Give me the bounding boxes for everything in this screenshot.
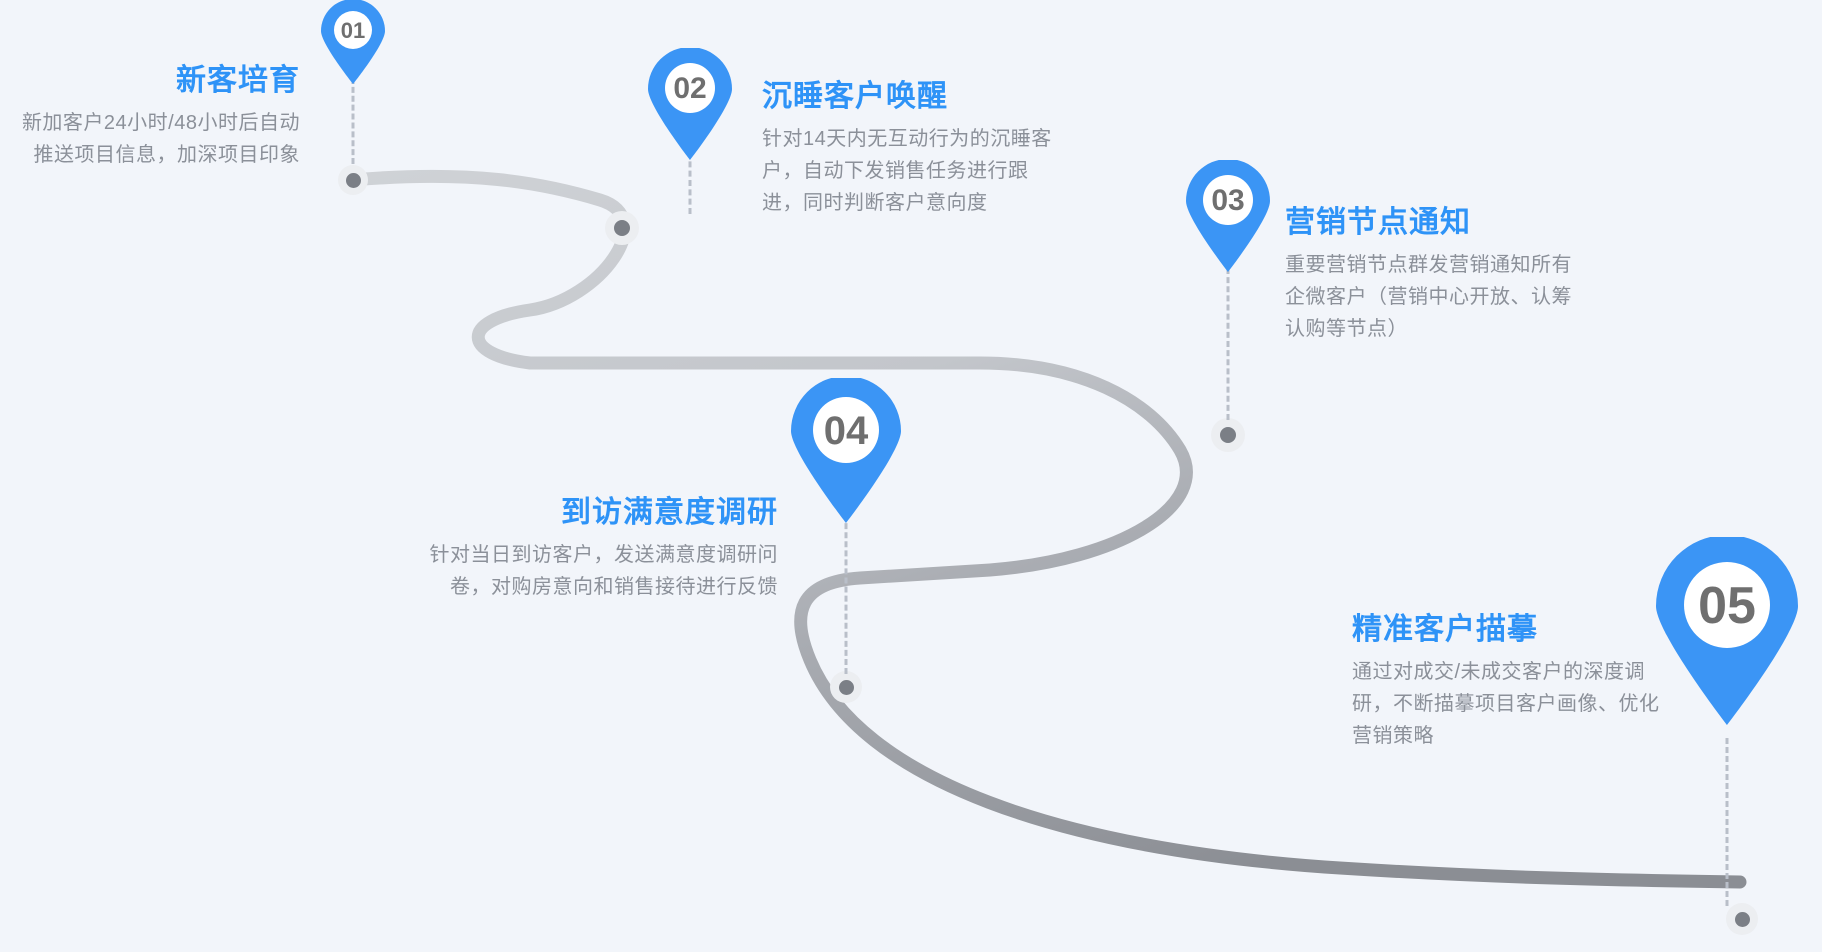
node-dot-05 — [1726, 903, 1758, 935]
step-text-05: 精准客户描摹 通过对成交/未成交客户的深度调研，不断描摹项目客户画像、优化营销策… — [1352, 613, 1672, 753]
map-pin-icon — [317, 0, 389, 84]
step-title-02: 沉睡客户唤醒 — [762, 80, 1052, 115]
map-pin-icon — [642, 48, 738, 160]
infographic-roadmap: 01 02 03 04 05 新客培育 新加客户24小时/4 — [0, 0, 1822, 952]
step-desc-03: 重要营销节点群发营销通知所有企微客户（营销中心开放、认筹认购等节点） — [1285, 249, 1585, 346]
step-title-03: 营销节点通知 — [1285, 206, 1585, 241]
node-dot-03 — [1211, 418, 1245, 452]
map-pin-icon — [784, 378, 908, 523]
step-desc-04: 针对当日到访客户，发送满意度调研问卷，对购房意向和销售接待进行反馈 — [428, 539, 778, 604]
step-title-05: 精准客户描摹 — [1352, 613, 1672, 648]
map-pin-icon — [1180, 160, 1276, 272]
dashed-connector-05 — [1726, 738, 1729, 906]
step-pin-01[interactable]: 01 — [317, 0, 389, 84]
node-dot-04 — [830, 671, 862, 703]
step-text-01: 新客培育 新加客户24小时/48小时后自动推送项目信息，加深项目印象 — [20, 64, 300, 171]
step-desc-01: 新加客户24小时/48小时后自动推送项目信息，加深项目印象 — [20, 107, 300, 172]
step-text-03: 营销节点通知 重要营销节点群发营销通知所有企微客户（营销中心开放、认筹认购等节点… — [1285, 206, 1585, 346]
step-title-01: 新客培育 — [20, 64, 300, 99]
step-title-04: 到访满意度调研 — [428, 496, 778, 531]
step-text-04: 到访满意度调研 针对当日到访客户，发送满意度调研问卷，对购房意向和销售接待进行反… — [428, 496, 778, 603]
node-dot-01 — [338, 165, 368, 195]
step-text-02: 沉睡客户唤醒 针对14天内无互动行为的沉睡客户，自动下发销售任务进行跟进，同时判… — [762, 80, 1052, 220]
dashed-connector-02 — [689, 152, 692, 214]
step-desc-02: 针对14天内无互动行为的沉睡客户，自动下发销售任务进行跟进，同时判断客户意向度 — [762, 123, 1052, 220]
step-pin-02[interactable]: 02 — [642, 48, 738, 160]
step-desc-05: 通过对成交/未成交客户的深度调研，不断描摹项目客户画像、优化营销策略 — [1352, 656, 1672, 753]
dashed-connector-03 — [1227, 268, 1230, 420]
step-pin-04[interactable]: 04 — [784, 378, 908, 523]
step-pin-03[interactable]: 03 — [1180, 160, 1276, 272]
node-dot-02 — [605, 211, 639, 245]
dashed-connector-01 — [352, 78, 355, 164]
